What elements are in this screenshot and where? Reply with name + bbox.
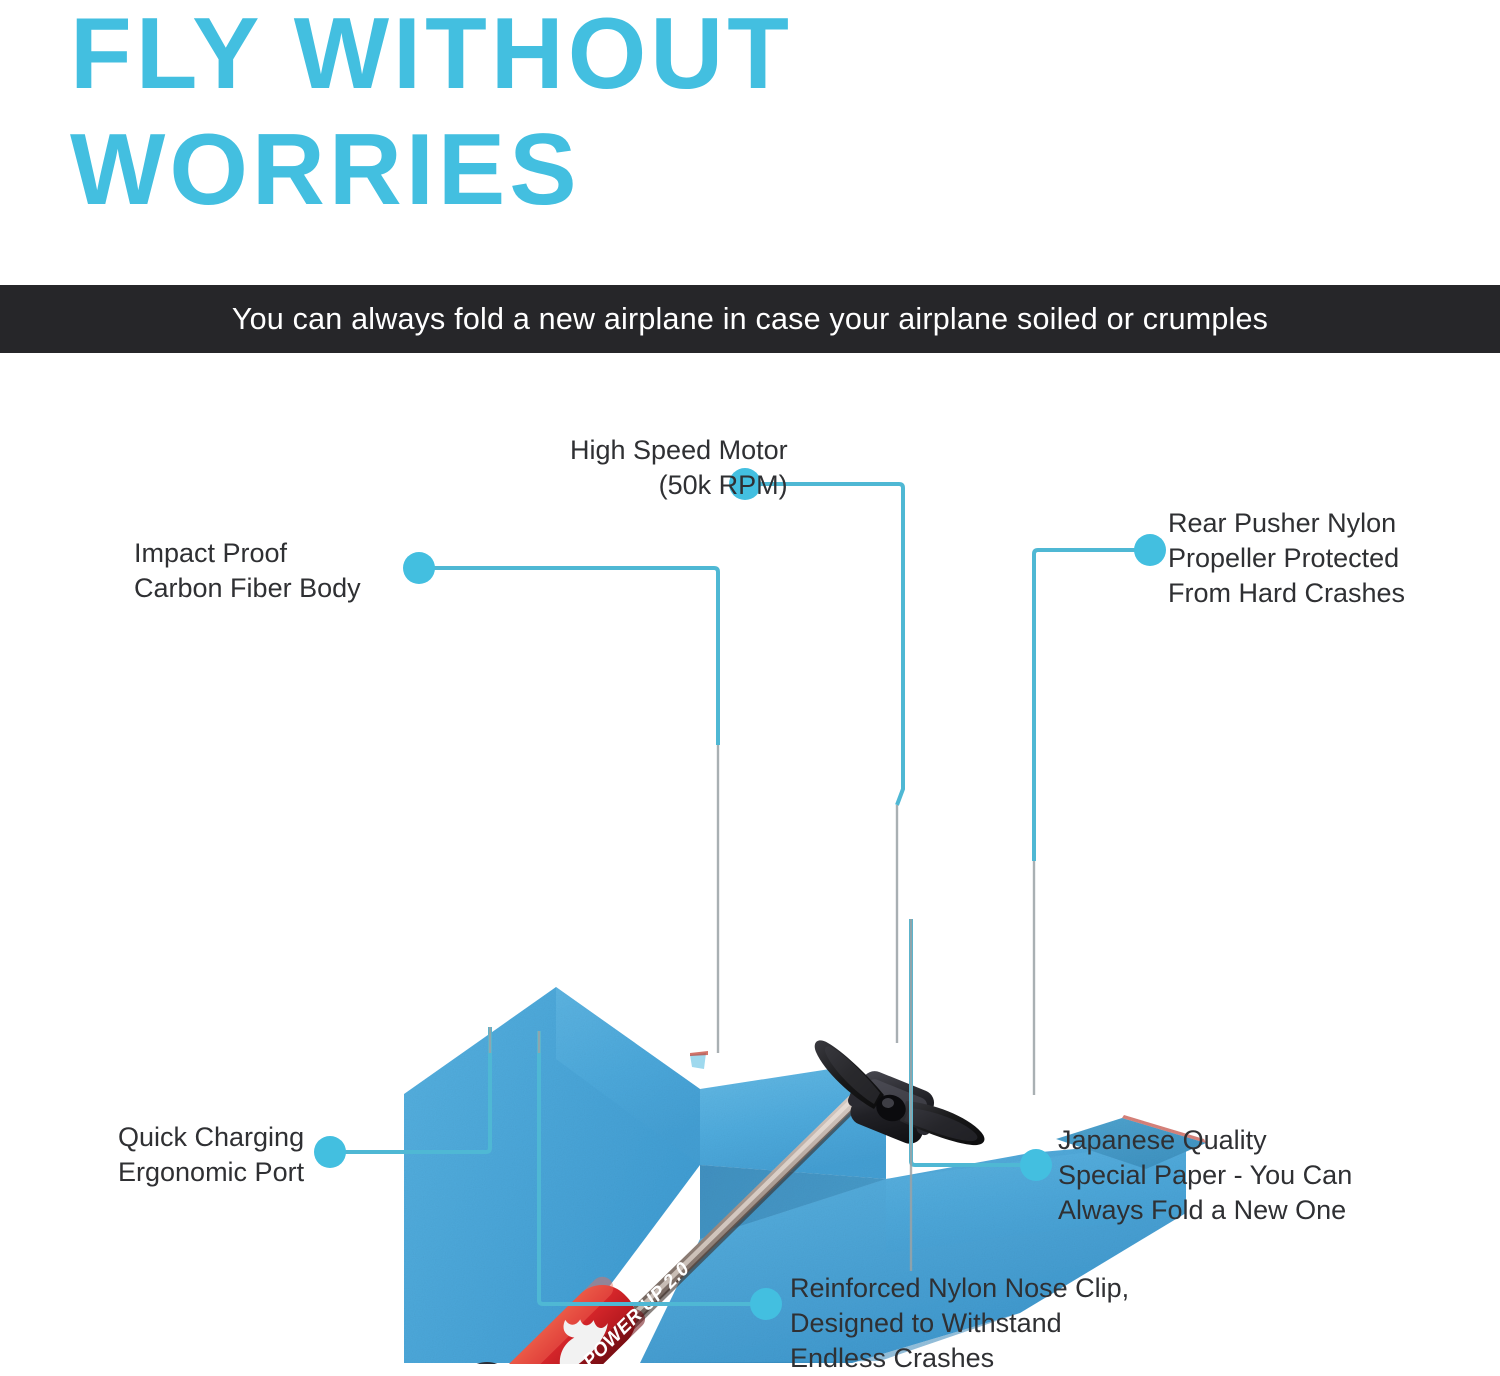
callout-rear-pusher-propeller: Rear Pusher Nylon Propeller Protected Fr…	[1168, 506, 1405, 611]
callout-line: Always Fold a New One	[1058, 1193, 1352, 1228]
callout-line: Special Paper - You Can	[1058, 1158, 1352, 1193]
callout-line: Endless Crashes	[790, 1341, 1129, 1376]
callout-line: Designed to Withstand	[790, 1306, 1129, 1341]
callout-line: Rear Pusher Nylon	[1168, 506, 1405, 541]
callout-line: Carbon Fiber Body	[134, 571, 361, 606]
callout-high-speed-motor: High Speed Motor (50k RPM)	[570, 433, 788, 503]
callout-line: High Speed Motor	[570, 433, 788, 468]
callout-line: Propeller Protected	[1168, 541, 1405, 576]
callout-line: Impact Proof	[134, 536, 361, 571]
callout-japanese-paper: Japanese Quality Special Paper - You Can…	[1058, 1123, 1352, 1228]
callout-quick-charging-port: Quick Charging Ergonomic Port	[118, 1120, 304, 1190]
headline-line-1: FLY WITHOUT	[70, 4, 1070, 104]
callout-line: (50k RPM)	[570, 468, 788, 503]
callout-nylon-nose-clip: Reinforced Nylon Nose Clip, Designed to …	[790, 1271, 1129, 1376]
callout-line: Reinforced Nylon Nose Clip,	[790, 1271, 1129, 1306]
product-diagram: POWER UP 2.0	[0, 353, 1500, 1364]
sub-banner: You can always fold a new airplane in ca…	[0, 285, 1500, 353]
callout-line: Japanese Quality	[1058, 1123, 1352, 1158]
callout-line: From Hard Crashes	[1168, 576, 1405, 611]
airplane-fold-tab	[690, 1051, 708, 1069]
callout-line: Ergonomic Port	[118, 1155, 304, 1190]
callout-line: Quick Charging	[118, 1120, 304, 1155]
headline: FLY WITHOUT WORRIES	[70, 4, 1070, 220]
sub-banner-text: You can always fold a new airplane in ca…	[232, 302, 1268, 337]
headline-line-2: WORRIES	[70, 120, 1070, 220]
callout-carbon-fiber-body: Impact Proof Carbon Fiber Body	[134, 536, 361, 606]
